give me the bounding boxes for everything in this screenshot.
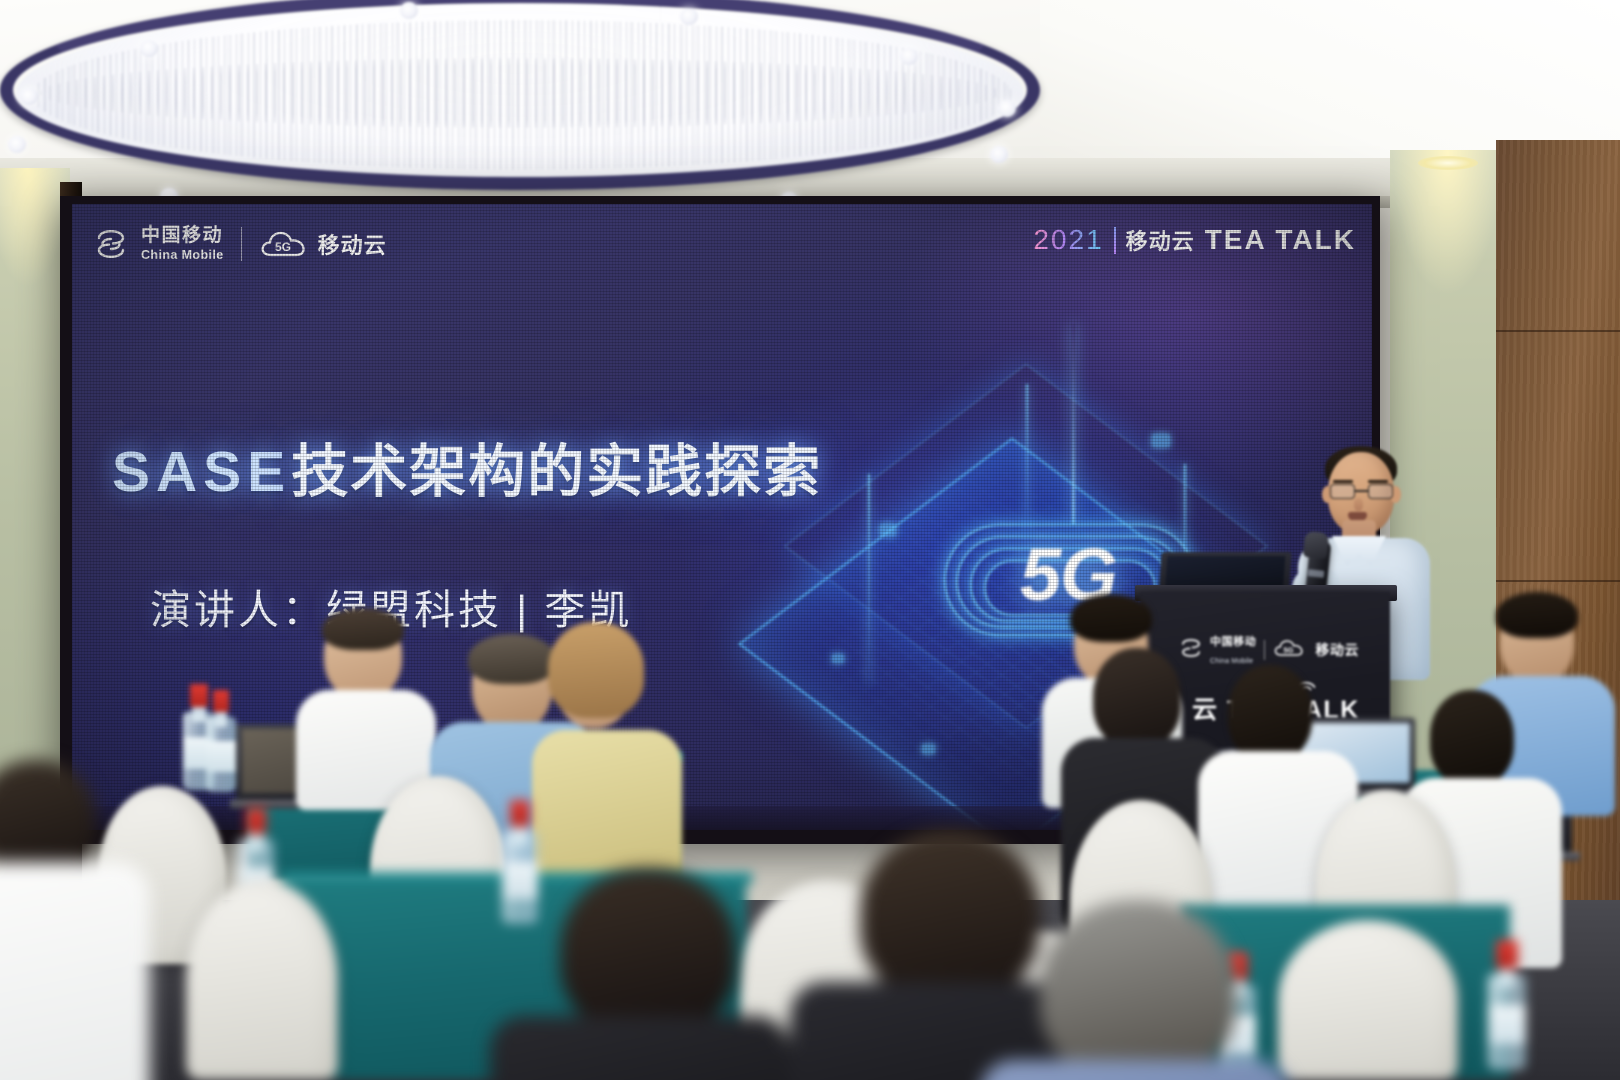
chair bbox=[186, 880, 338, 1080]
podium-brand-en: China Mobile bbox=[1210, 658, 1253, 665]
slide-logo-tea-talk: 2021 移动云 TEA TALK bbox=[1033, 224, 1356, 256]
cloud-5g-icon: 5G bbox=[259, 228, 311, 260]
mobile-cloud-name-cn: 移动云 bbox=[318, 228, 387, 260]
tea-talk-brand-cn: 移动云 bbox=[1126, 224, 1195, 256]
podium-logo-china-mobile: 中国移动 China Mobile 5G 移动云 bbox=[1180, 632, 1359, 668]
wall-right-light-glow bbox=[1390, 150, 1505, 300]
speaker-glasses-icon bbox=[1330, 484, 1394, 500]
logo-divider bbox=[241, 227, 242, 261]
slide-title-en: SASE bbox=[112, 440, 291, 504]
svg-text:5G: 5G bbox=[275, 240, 291, 254]
china-mobile-name-cn: 中国移动 bbox=[141, 226, 224, 245]
mobile-cloud-logo: 5G 移动云 bbox=[259, 228, 387, 260]
podium-cloud-brand-cn: 移动云 bbox=[1315, 640, 1359, 660]
logo-divider-right bbox=[1114, 227, 1116, 254]
podium-logo-divider bbox=[1264, 640, 1265, 660]
slide-title: SASE技术架构的实践探索 bbox=[112, 426, 822, 508]
water-bottle bbox=[1488, 940, 1526, 1070]
chair bbox=[1278, 920, 1458, 1080]
podium-brand-cn: 中国移动 bbox=[1210, 636, 1256, 648]
light-beam bbox=[1072, 324, 1075, 524]
slide-logo-china-mobile: 中国移动 China Mobile 5G 移动云 bbox=[94, 226, 387, 262]
event-year: 2021 bbox=[1033, 224, 1103, 256]
wall-wash-light bbox=[1418, 156, 1478, 170]
water-bottle bbox=[206, 690, 236, 792]
tea-talk-brand-en: TEA TALK bbox=[1205, 224, 1356, 256]
water-bottle bbox=[502, 800, 538, 924]
conference-photo: 5G 中国移动 China Mobile bbox=[0, 0, 1620, 1080]
podium-china-mobile-mark-icon bbox=[1180, 637, 1202, 664]
podium-cloud-5g-icon: 5G bbox=[1273, 638, 1307, 663]
speaker-nose bbox=[1354, 498, 1363, 511]
china-mobile-logo-icon bbox=[94, 227, 128, 261]
china-mobile-name-en: China Mobile bbox=[141, 249, 224, 262]
svg-text:5G: 5G bbox=[1284, 645, 1294, 654]
chandelier-top-arc bbox=[0, 0, 1040, 190]
slide-title-cn: 技术架构的实践探索 bbox=[291, 440, 822, 504]
microphone-head bbox=[1303, 531, 1330, 559]
